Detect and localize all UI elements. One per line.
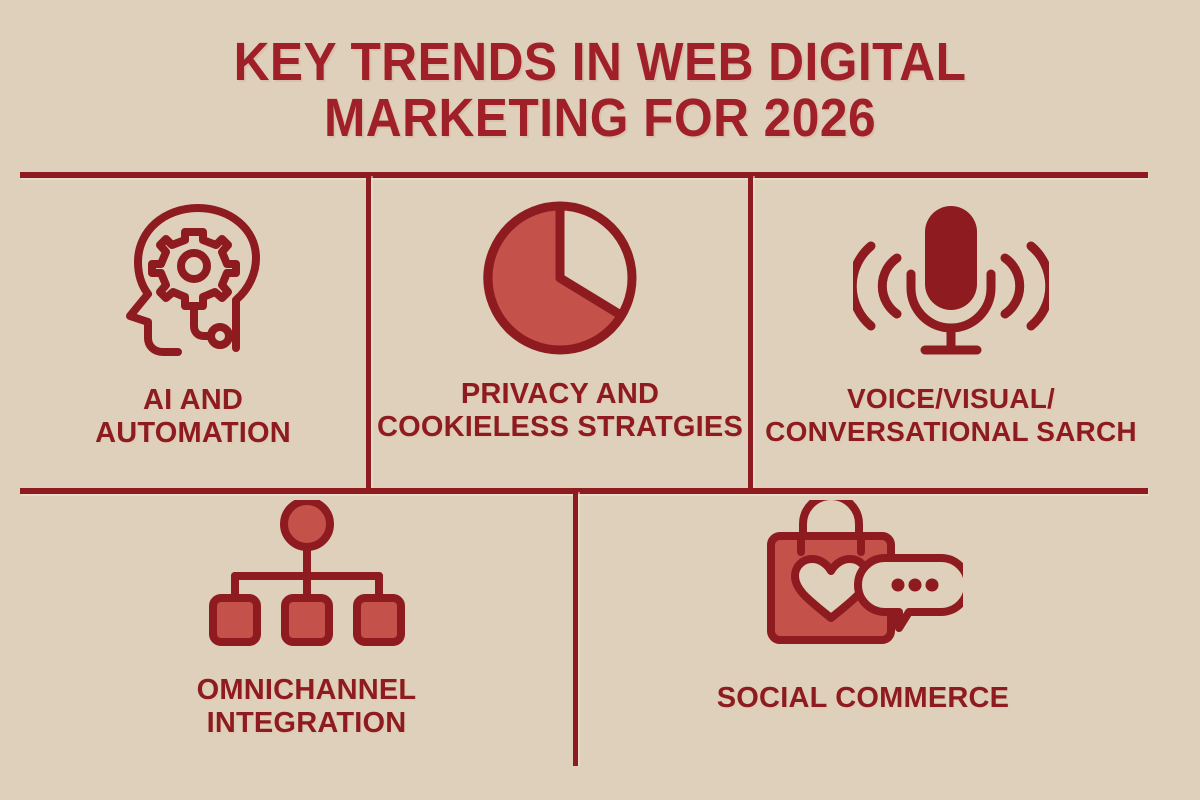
divider-horizontal-top <box>20 172 1148 178</box>
trend-label-privacy-cookieless: PRIVACY AND COOKIELESS STRATGIES <box>377 378 743 444</box>
shopping-bag-chat-icon <box>763 500 963 652</box>
divider-horizontal-middle <box>20 488 1148 494</box>
divider-vertical-left <box>366 176 371 488</box>
microphone-icon <box>853 196 1049 364</box>
trend-cell-voice-search: VOICE/VISUAL/ CONVERSATIONAL SARCH <box>754 196 1148 448</box>
title-line-1: KEY TRENDS IN WEB DIGITAL <box>48 34 1152 90</box>
trend-cell-ai-automation: AI AND AUTOMATION <box>20 196 366 450</box>
hierarchy-network-icon <box>207 500 407 650</box>
trend-label-social-commerce: SOCIAL COMMERCE <box>717 682 1009 715</box>
title-line-2: MARKETING FOR 2026 <box>48 90 1152 146</box>
trend-label-voice-search: VOICE/VISUAL/ CONVERSATIONAL SARCH <box>765 382 1137 448</box>
trend-cell-privacy-cookieless: PRIVACY AND COOKIELESS STRATGIES <box>372 196 748 444</box>
divider-vertical-right <box>748 176 753 488</box>
page-title: KEY TRENDS IN WEB DIGITAL MARKETING FOR … <box>0 34 1200 146</box>
trend-cell-social-commerce: SOCIAL COMMERCE <box>578 500 1148 715</box>
trend-cell-omnichannel: OMNICHANNEL INTEGRATION <box>40 500 573 740</box>
head-gear-icon <box>108 196 278 366</box>
pie-chart-icon <box>478 196 642 360</box>
trend-label-omnichannel: OMNICHANNEL INTEGRATION <box>197 674 417 740</box>
infographic-poster: KEY TRENDS IN WEB DIGITAL MARKETING FOR … <box>0 0 1200 800</box>
trend-label-ai-automation: AI AND AUTOMATION <box>95 384 291 450</box>
